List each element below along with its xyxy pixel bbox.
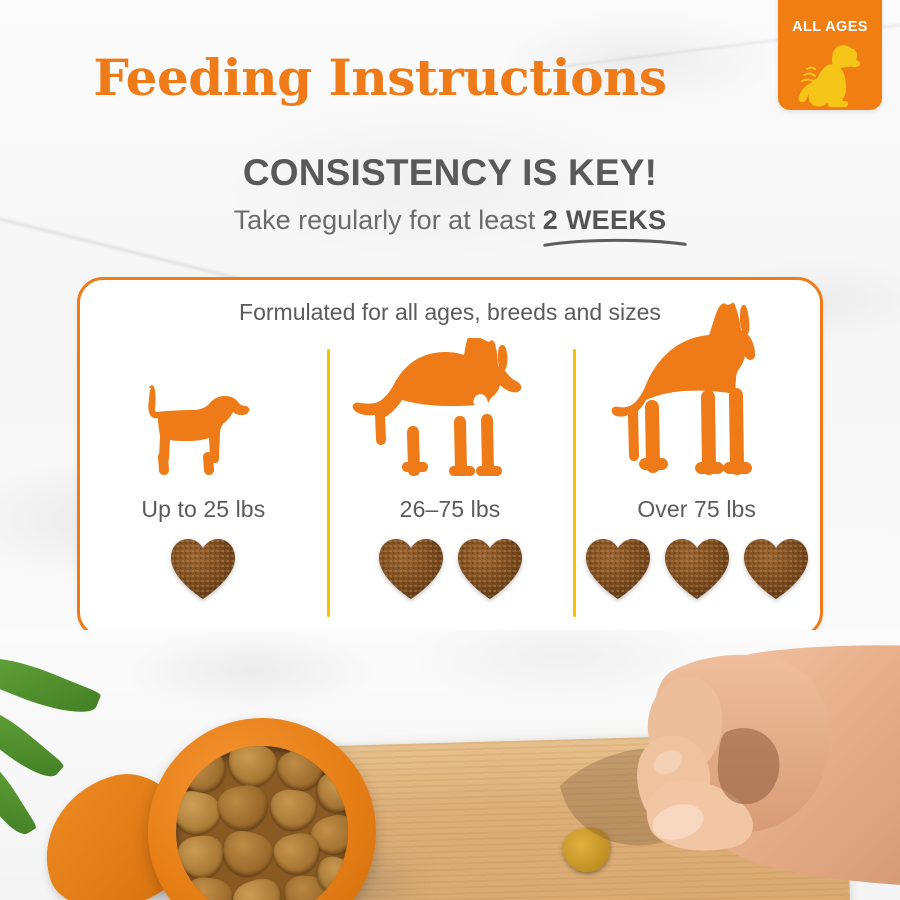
weight-label-medium: 26–75 lbs [400, 496, 501, 523]
medium-dog-icon [350, 338, 550, 480]
treat-count-small [167, 535, 239, 601]
kibble-piece [217, 826, 277, 881]
weight-label-large: Over 75 lbs [637, 496, 756, 523]
kibble-piece [176, 787, 224, 838]
feeding-columns: Up to 25 lbs [80, 340, 820, 625]
kibble-piece [181, 875, 234, 900]
hand-holding-treat [520, 636, 900, 900]
instruction-emphasis: 2 WEEKS [543, 205, 667, 235]
kibble-piece [225, 746, 279, 789]
instruction-line: Take regularly for at least 2 WEEKS [0, 205, 900, 236]
heart-kibble-icon [582, 535, 654, 601]
heart-kibble-icon [661, 535, 733, 601]
heart-kibble-icon [740, 535, 812, 601]
treat-count-large [582, 535, 812, 601]
dog-illustration-slot [604, 340, 790, 480]
feeding-column-small: Up to 25 lbs [80, 340, 327, 625]
kibble-piece [268, 788, 318, 833]
weight-label-small: Up to 25 lbs [141, 496, 265, 523]
heart-kibble-icon [454, 535, 526, 601]
kibble-piece [176, 747, 230, 797]
dog-illustration-slot [123, 340, 283, 480]
kibble-piece [176, 834, 226, 881]
page-title: Feeding Instructions [0, 52, 760, 105]
dog-illustration-slot [350, 340, 550, 480]
infographic-canvas: ALL AGES [0, 0, 900, 900]
small-dog-icon [123, 370, 283, 480]
kibble-piece [215, 782, 272, 834]
heart-kibble-icon [167, 535, 239, 601]
instruction-prefix: Take regularly for at least [234, 205, 543, 235]
feeding-column-medium: 26–75 lbs [327, 340, 574, 625]
kibble-piece [229, 874, 288, 900]
sitting-dog-icon [793, 39, 867, 107]
feeding-guide-card: Formulated for all ages, breeds and size… [77, 277, 823, 638]
instruction-emphasis-wrap: 2 WEEKS [543, 205, 667, 235]
treat-count-medium [375, 535, 526, 601]
underline-swoosh-icon [543, 238, 687, 247]
subtitle-consistency: CONSISTENCY IS KEY! [0, 152, 900, 194]
container-interior [176, 746, 348, 900]
large-dog-icon [604, 302, 790, 480]
feeding-column-large: Over 75 lbs [573, 340, 820, 625]
heart-kibble-icon [375, 535, 447, 601]
all-ages-badge-label: ALL AGES [792, 20, 868, 35]
all-ages-badge: ALL AGES [778, 0, 882, 110]
